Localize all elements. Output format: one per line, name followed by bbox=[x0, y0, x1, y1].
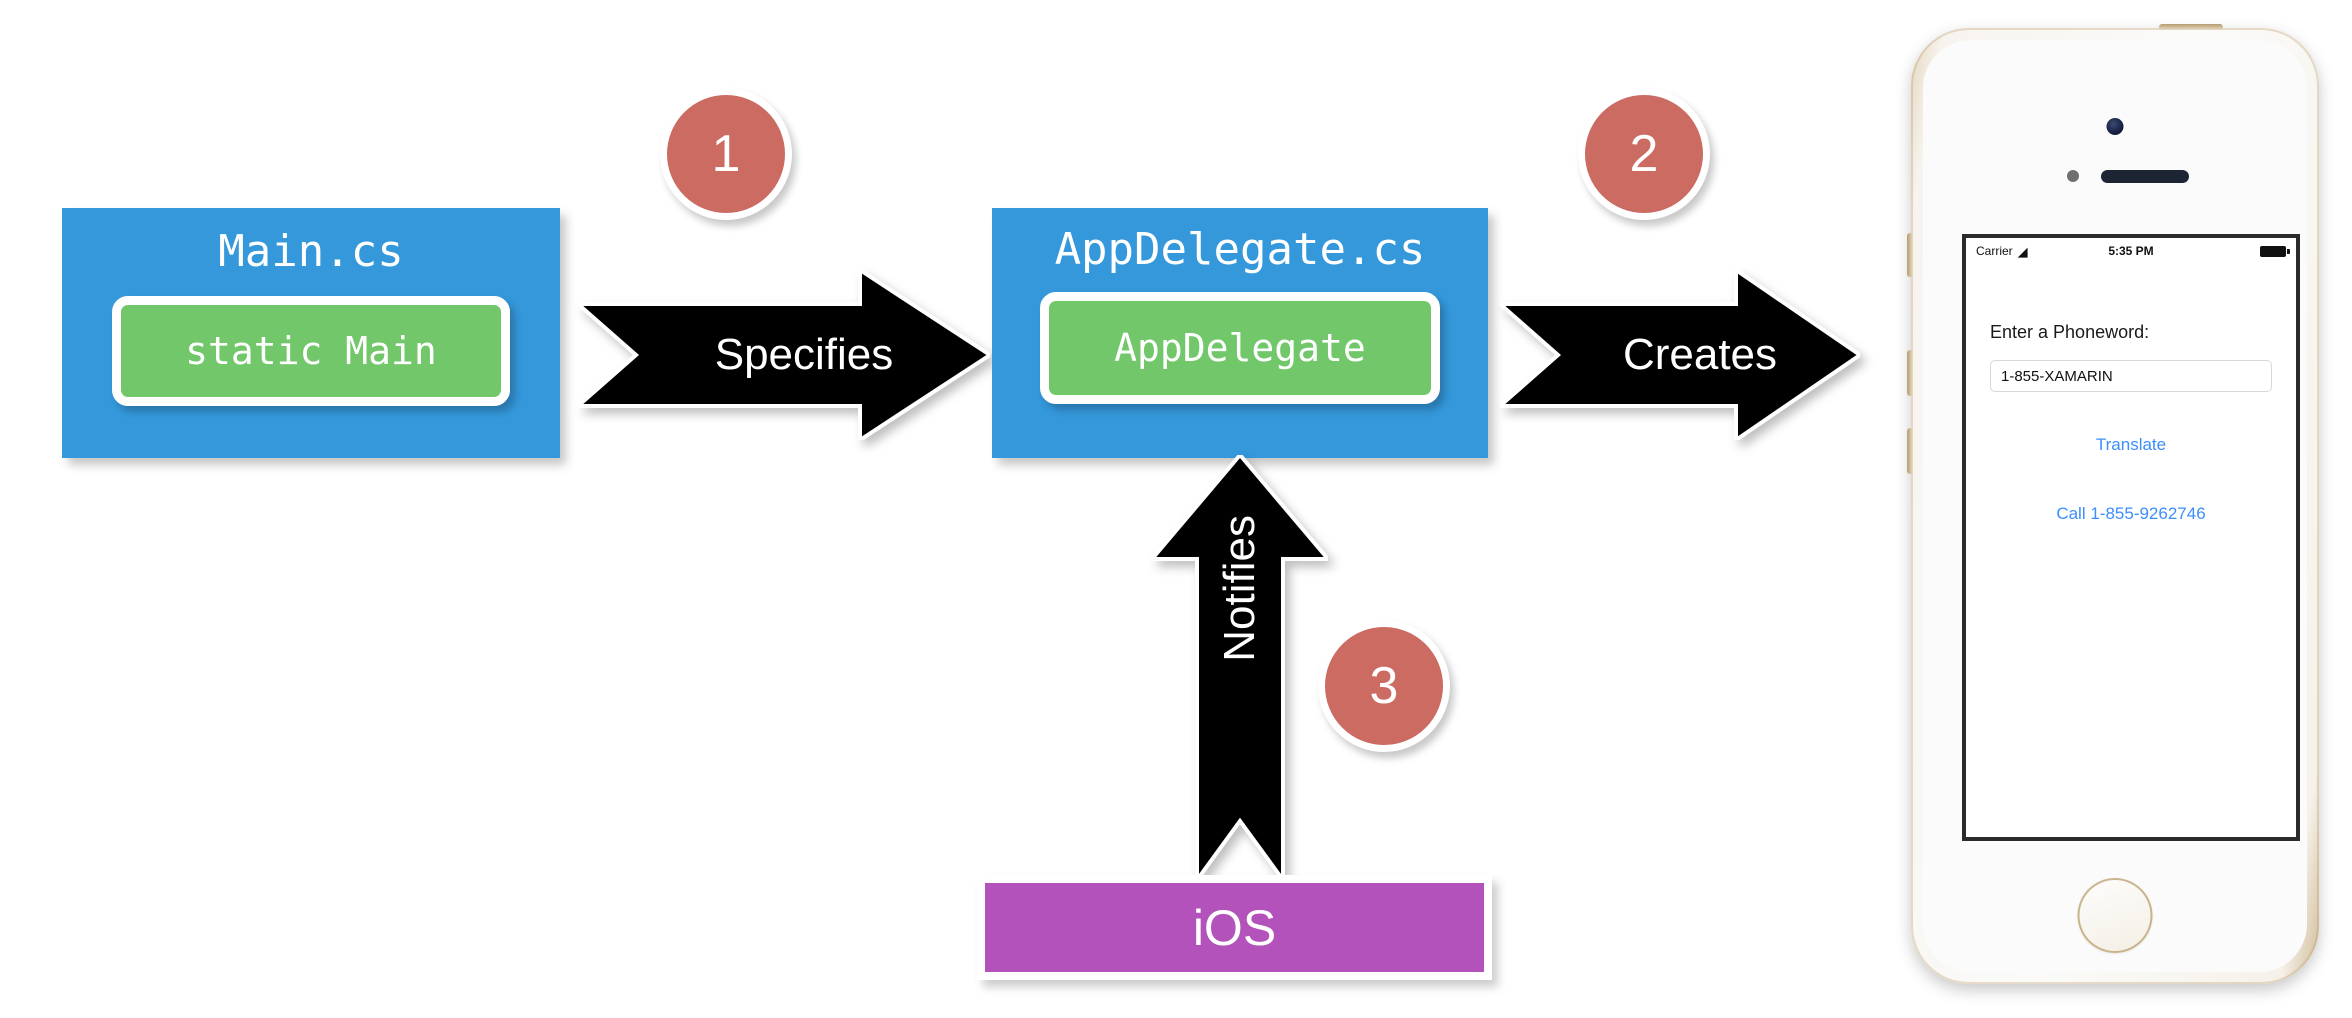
node-ios: iOS bbox=[977, 875, 1492, 980]
proximity-sensor-icon bbox=[2067, 170, 2079, 182]
node-appdelegate-cs-title: AppDelegate.cs bbox=[1055, 228, 1426, 272]
arrow-notifies: Notifies bbox=[1152, 455, 1328, 880]
iphone-mockup: Carrier ◢ 5:35 PM Enter a Phoneword: 1-8… bbox=[1905, 22, 2325, 990]
node-main-cs-class-chip: static Main bbox=[112, 296, 510, 406]
node-main-cs-class-label: static Main bbox=[185, 332, 437, 370]
arrow-creates: Creates bbox=[1500, 270, 1860, 440]
step-badge-2-label: 2 bbox=[1630, 128, 1659, 180]
node-appdelegate-cs-class-chip: AppDelegate bbox=[1040, 292, 1440, 404]
front-camera-icon bbox=[2107, 118, 2124, 135]
iphone-body: Carrier ◢ 5:35 PM Enter a Phoneword: 1-8… bbox=[1911, 28, 2319, 984]
earpiece-speaker-icon bbox=[2101, 170, 2189, 183]
volume-down-button[interactable] bbox=[1907, 428, 1913, 474]
arrow-notifies-shape bbox=[1152, 455, 1328, 880]
phoneword-prompt-label: Enter a Phoneword: bbox=[1990, 322, 2149, 343]
step-badge-1: 1 bbox=[660, 88, 792, 220]
step-badge-3-label: 3 bbox=[1370, 660, 1399, 712]
step-badge-2: 2 bbox=[1578, 88, 1710, 220]
iphone-screen: Carrier ◢ 5:35 PM Enter a Phoneword: 1-8… bbox=[1962, 234, 2300, 841]
iphone-front-face: Carrier ◢ 5:35 PM Enter a Phoneword: 1-8… bbox=[1923, 40, 2307, 972]
node-appdelegate-cs: AppDelegate.cs AppDelegate bbox=[992, 208, 1488, 458]
node-appdelegate-cs-class-label: AppDelegate bbox=[1114, 329, 1366, 367]
translate-button[interactable]: Translate bbox=[1966, 435, 2296, 455]
status-bar-time: 5:35 PM bbox=[1966, 244, 2296, 258]
node-main-cs-title: Main.cs bbox=[218, 230, 403, 274]
arrow-specifies-shape bbox=[578, 270, 990, 440]
battery-full-icon bbox=[2260, 246, 2286, 257]
arrow-specifies: Specifies bbox=[578, 270, 990, 440]
home-button[interactable] bbox=[2078, 878, 2153, 953]
volume-up-button[interactable] bbox=[1907, 350, 1913, 396]
phoneword-input-value: 1-855-XAMARIN bbox=[2001, 368, 2113, 385]
status-bar: Carrier ◢ 5:35 PM bbox=[1966, 238, 2296, 264]
call-button[interactable]: Call 1-855-9262746 bbox=[1966, 504, 2296, 524]
diagram-canvas: Main.cs static Main Specifies AppDelegat… bbox=[0, 0, 2352, 1018]
mute-switch[interactable] bbox=[1907, 233, 1913, 277]
node-ios-label: iOS bbox=[1193, 903, 1276, 953]
step-badge-3: 3 bbox=[1318, 620, 1450, 752]
phoneword-input[interactable]: 1-855-XAMARIN bbox=[1990, 360, 2272, 392]
node-main-cs: Main.cs static Main bbox=[62, 208, 560, 458]
status-bar-right bbox=[2260, 246, 2286, 257]
arrow-creates-shape bbox=[1500, 270, 1860, 440]
power-button[interactable] bbox=[2159, 24, 2223, 30]
step-badge-1-label: 1 bbox=[712, 128, 741, 180]
